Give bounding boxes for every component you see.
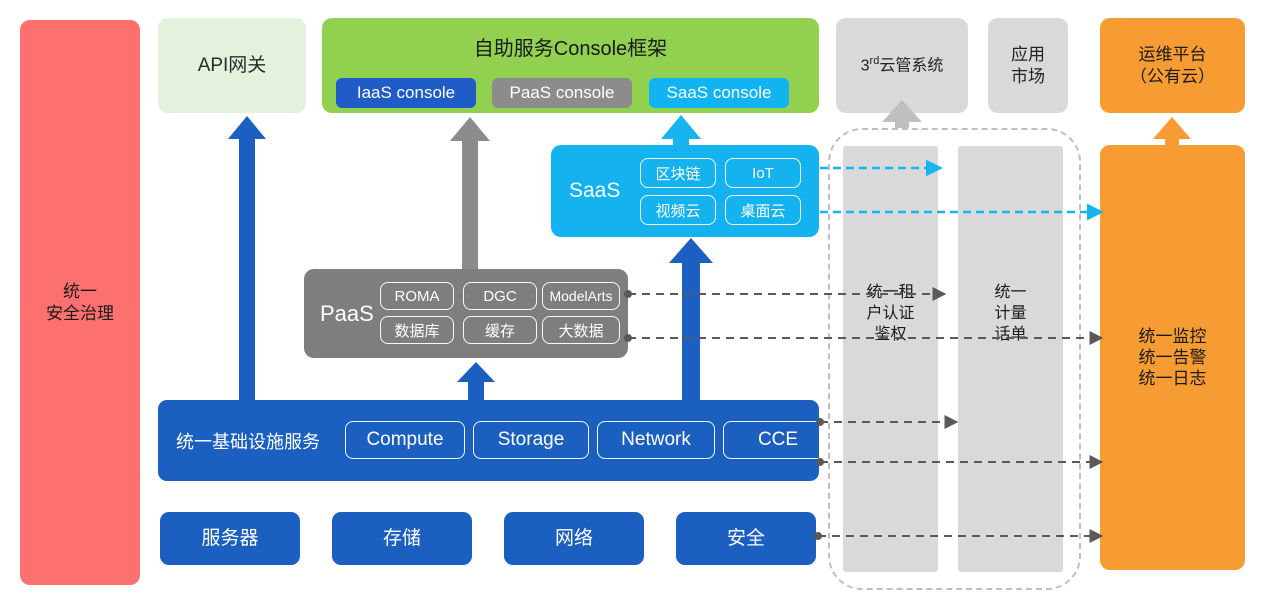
resource-server-label: 服务器 — [201, 527, 258, 551]
paas-layer-label: PaaS — [320, 301, 374, 327]
infra-item-compute[interactable]: Compute — [345, 421, 465, 459]
arrow-paas-to-console — [450, 117, 490, 269]
chip-iaas-console-label: IaaS console — [357, 83, 455, 103]
paas-item-cache[interactable]: 缓存 — [463, 316, 537, 344]
resource-security-box[interactable]: 安全 — [676, 512, 816, 565]
paas-item-database-label: 数据库 — [394, 320, 439, 341]
ops-platform-public-cloud-label: 运维平台 （公有云） — [1130, 44, 1215, 87]
arrow-ops-panel-to-ops-platform — [1153, 117, 1191, 145]
app-market-box[interactable]: 应用 市场 — [988, 18, 1068, 113]
paas-item-dgc-label: DGC — [483, 288, 516, 305]
saas-item-desktop-cloud-label: 桌面云 — [740, 200, 785, 221]
arrow-infra-to-paas — [457, 362, 495, 400]
saas-item-blockchain[interactable]: 区块链 — [640, 158, 716, 188]
saas-item-iot[interactable]: IoT — [725, 158, 801, 188]
third-party-cloud-mgmt-label: 3rd云管系统 — [861, 55, 944, 76]
saas-item-desktop-cloud[interactable]: 桌面云 — [725, 195, 801, 225]
saas-item-iot-label: IoT — [752, 165, 774, 182]
chip-paas-console[interactable]: PaaS console — [492, 78, 632, 108]
chip-iaas-console[interactable]: IaaS console — [336, 78, 476, 108]
ops-platform-public-cloud-box[interactable]: 运维平台 （公有云） — [1100, 18, 1245, 113]
infra-item-network-label: Network — [621, 429, 691, 451]
saas-layer-panel: SaaS 区块链 IoT 视频云 桌面云 — [551, 145, 819, 237]
infrastructure-services-label: 统一基础设施服务 — [176, 428, 320, 454]
resource-storage-box[interactable]: 存储 — [332, 512, 472, 565]
paas-item-cache-label: 缓存 — [485, 320, 515, 341]
infra-item-cce-label: CCE — [758, 429, 798, 451]
app-market-label: 应用 市场 — [1011, 44, 1045, 87]
resource-server-box[interactable]: 服务器 — [160, 512, 300, 565]
resource-security-label: 安全 — [727, 527, 765, 551]
console-framework-panel: 自助服务Console框架 IaaS console PaaS console … — [322, 18, 819, 113]
arrow-infra-to-saas — [669, 238, 713, 400]
paas-item-modelarts-label: ModelArts — [549, 288, 612, 304]
paas-layer-panel: PaaS ROMA DGC ModelArts 数据库 缓存 大数据 — [304, 269, 628, 358]
saas-item-video-cloud[interactable]: 视频云 — [640, 195, 716, 225]
unified-monitoring-label: 统一监控 统一告警 统一日志 — [1139, 326, 1207, 390]
tenant-auth-column-label: 统一租 户认证 鉴权 — [843, 283, 938, 345]
tenant-auth-column[interactable] — [843, 146, 938, 572]
infra-item-storage-label: Storage — [498, 429, 565, 451]
saas-item-video-cloud-label: 视频云 — [655, 200, 700, 221]
unified-monitoring-panel[interactable]: 统一监控 统一告警 统一日志 — [1100, 145, 1245, 570]
paas-item-dgc[interactable]: DGC — [463, 282, 537, 310]
paas-item-roma[interactable]: ROMA — [380, 282, 454, 310]
console-framework-title: 自助服务Console框架 — [322, 32, 819, 61]
architecture-diagram: 统一 安全治理 API网关 自助服务Console框架 IaaS console… — [0, 0, 1265, 605]
chip-saas-console[interactable]: SaaS console — [649, 78, 789, 108]
paas-item-modelarts[interactable]: ModelArts — [542, 282, 620, 310]
saas-layer-label: SaaS — [569, 179, 620, 203]
third-party-cloud-mgmt-box[interactable]: 3rd云管系统 — [836, 18, 968, 113]
saas-item-blockchain-label: 区块链 — [655, 163, 700, 184]
chip-paas-console-label: PaaS console — [510, 83, 615, 103]
chip-saas-console-label: SaaS console — [667, 83, 772, 103]
security-governance-panel: 统一 安全治理 — [20, 20, 140, 585]
infra-item-storage[interactable]: Storage — [473, 421, 589, 459]
metering-billing-column[interactable] — [958, 146, 1063, 572]
resource-network-label: 网络 — [555, 527, 593, 551]
paas-item-database[interactable]: 数据库 — [380, 316, 454, 344]
resource-storage-label: 存储 — [383, 527, 421, 551]
paas-item-bigdata[interactable]: 大数据 — [542, 316, 620, 344]
security-governance-label: 统一 安全治理 — [46, 281, 114, 324]
paas-item-roma-label: ROMA — [395, 288, 440, 305]
infra-item-compute-label: Compute — [366, 429, 443, 451]
metering-billing-column-label: 统一 计量 话单 — [958, 283, 1063, 345]
infrastructure-services-panel: 统一基础设施服务 Compute Storage Network CCE — [158, 400, 819, 481]
paas-item-bigdata-label: 大数据 — [558, 320, 603, 341]
api-gateway-label: API网关 — [198, 54, 267, 78]
arrow-infra-to-api-gateway — [228, 116, 266, 400]
arrow-saas-to-console — [661, 115, 701, 145]
infra-item-cce[interactable]: CCE — [723, 421, 833, 459]
api-gateway-box[interactable]: API网关 — [158, 18, 306, 113]
resource-network-box[interactable]: 网络 — [504, 512, 644, 565]
infra-item-network[interactable]: Network — [597, 421, 715, 459]
